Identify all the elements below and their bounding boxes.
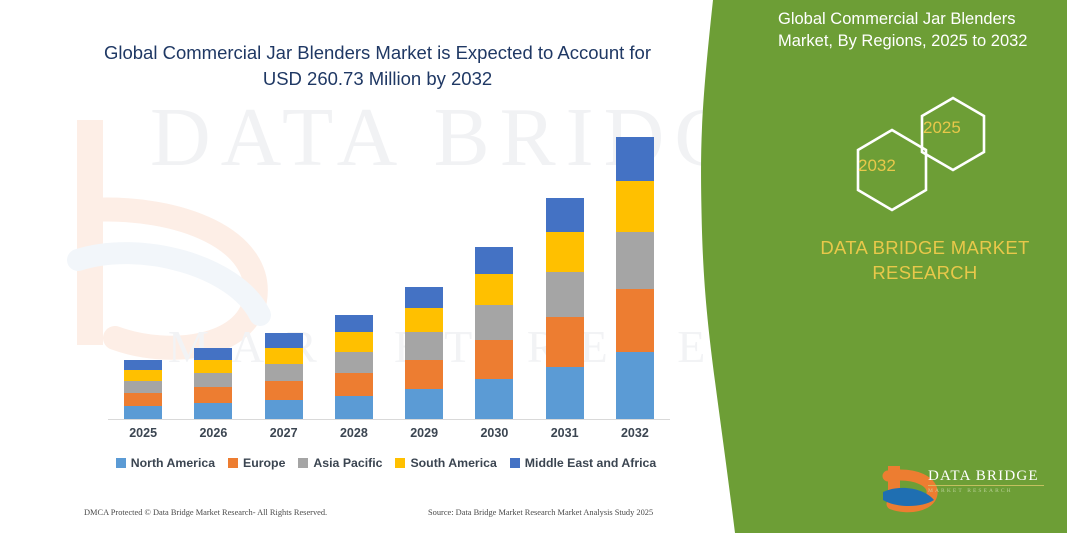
bar-segment (475, 340, 513, 378)
x-axis-tick-label: 2029 (389, 426, 459, 440)
hex-label-end: 2032 (858, 156, 896, 176)
bar-column (405, 287, 443, 420)
x-axis-tick-label: 2032 (600, 426, 670, 440)
legend-label: Asia Pacific (313, 456, 382, 470)
legend-swatch (510, 458, 520, 468)
panel-brand: DATA BRIDGE MARKET RESEARCH (790, 236, 1060, 286)
bar-segment (194, 360, 232, 373)
bar-column (124, 360, 162, 420)
bar-column (616, 137, 654, 420)
footer-copyright: DMCA Protected © Data Bridge Market Rese… (84, 508, 327, 517)
bar-segment (124, 406, 162, 420)
legend-swatch (298, 458, 308, 468)
bar-column (546, 198, 584, 420)
bar-segment (616, 181, 654, 231)
bar-segment (405, 389, 443, 420)
bar-segment (335, 396, 373, 420)
bar-segment (265, 400, 303, 420)
bar-segment (475, 305, 513, 340)
x-axis-tick-label: 2031 (530, 426, 600, 440)
x-axis-labels: 20252026202720282029203020312032 (108, 426, 670, 446)
bar-segment (265, 348, 303, 364)
legend-swatch (395, 458, 405, 468)
logo-divider (928, 485, 1044, 486)
bar-segment (405, 360, 443, 389)
bar-segment (265, 333, 303, 347)
x-axis-line (108, 419, 670, 420)
bar-segment (194, 387, 232, 403)
bar-segment (616, 352, 654, 420)
bar-segment (124, 393, 162, 406)
legend-label: North America (131, 456, 215, 470)
chart-plot-area (108, 118, 670, 420)
bar-segment (546, 272, 584, 317)
bar-segment (335, 352, 373, 373)
panel-title: Global Commercial Jar Blenders Market, B… (778, 8, 1056, 53)
bar-column (335, 315, 373, 420)
logo-wordmark: DATA BRIDGE (928, 468, 1039, 485)
bar-segment (546, 317, 584, 366)
logo-tagline: MARKET RESEARCH (928, 488, 1013, 494)
legend-label: Middle East and Africa (525, 456, 656, 470)
bar-segment (335, 373, 373, 396)
legend-item[interactable]: Middle East and Africa (510, 456, 656, 470)
legend-label: Europe (243, 456, 285, 470)
bar-segment (265, 364, 303, 381)
legend-item[interactable]: Europe (228, 456, 285, 470)
bar-segment (194, 373, 232, 387)
bar-segment (124, 360, 162, 370)
bar-segment (616, 232, 654, 289)
legend-item[interactable]: South America (395, 456, 496, 470)
bar-segment (405, 332, 443, 359)
bar-segment (335, 315, 373, 332)
x-axis-tick-label: 2026 (178, 426, 248, 440)
bar-segment (616, 289, 654, 351)
bar-column (475, 247, 513, 420)
bar-segment (546, 367, 584, 420)
bar-segment (194, 403, 232, 420)
x-axis-tick-label: 2028 (319, 426, 389, 440)
legend-item[interactable]: Asia Pacific (298, 456, 382, 470)
legend-item[interactable]: North America (116, 456, 215, 470)
bar-segment (546, 232, 584, 272)
legend-swatch (116, 458, 126, 468)
hexagon-outlines-icon (820, 92, 1050, 212)
bar-segment (335, 332, 373, 351)
bar-segment (405, 287, 443, 308)
chart-legend: North AmericaEuropeAsia PacificSouth Ame… (100, 456, 672, 470)
bar-segment (546, 198, 584, 232)
bar-column (265, 333, 303, 420)
footer-source: Source: Data Bridge Market Research Mark… (428, 508, 653, 517)
bar-segment (124, 370, 162, 381)
x-axis-tick-label: 2030 (459, 426, 529, 440)
x-axis-tick-label: 2027 (249, 426, 319, 440)
bar-segment (405, 308, 443, 332)
bar-segment (475, 274, 513, 305)
bar-segment (265, 381, 303, 400)
hexagon-group: 2025 2032 (820, 92, 1050, 212)
x-axis-tick-label: 2025 (108, 426, 178, 440)
hex-label-start: 2025 (923, 118, 961, 138)
legend-label: South America (410, 456, 496, 470)
bar-column (194, 348, 232, 420)
chart-title: Global Commercial Jar Blenders Market is… (85, 40, 670, 93)
infographic-page: DATA BRIDGE MARKET RESEARCH Global Comme… (0, 0, 1067, 533)
bar-segment (616, 137, 654, 181)
bar-segment (475, 379, 513, 420)
bar-segment (475, 247, 513, 274)
legend-swatch (228, 458, 238, 468)
bar-segment (124, 381, 162, 393)
bar-segment (194, 348, 232, 360)
